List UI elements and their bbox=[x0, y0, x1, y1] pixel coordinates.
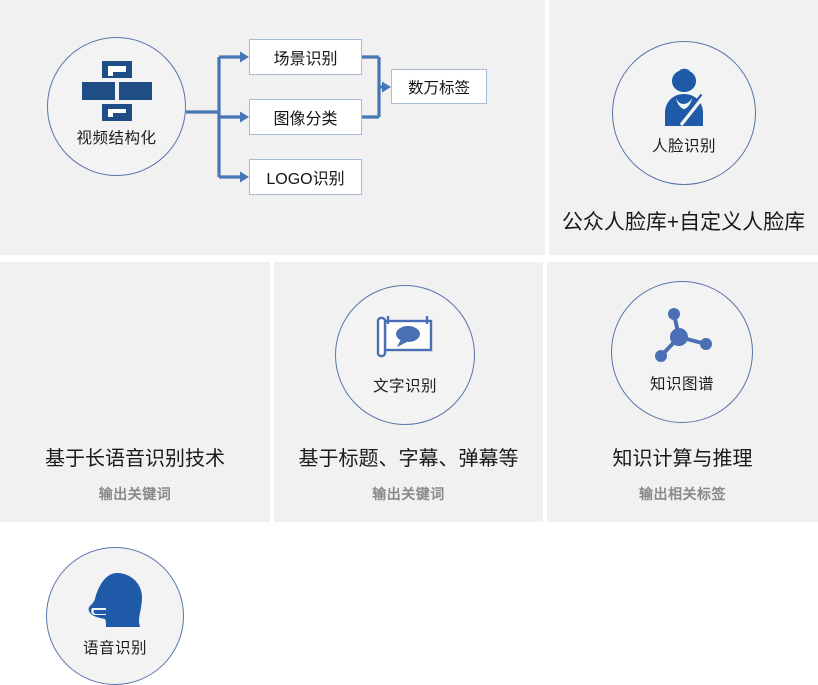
caption-ocr-sub: 输出关键词 bbox=[274, 484, 543, 504]
flow-box-image-classification[interactable]: 图像分类 bbox=[249, 99, 362, 135]
flow-box-tags-output[interactable]: 数万标签 bbox=[391, 69, 487, 104]
ocr-banner-icon bbox=[336, 314, 474, 362]
circle-label-video: 视频结构化 bbox=[48, 126, 185, 148]
caption-ocr-main: 基于标题、字幕、弹幕等 bbox=[274, 442, 543, 471]
knowledge-graph-icon bbox=[612, 304, 752, 364]
capability-overview-board: 视频结构化 场景识别 图像分类 LOGO识别 数万标签 bbox=[0, 0, 818, 522]
circle-label-ocr: 文字识别 bbox=[336, 374, 474, 396]
circle-knowledge-graph[interactable]: 知识图谱 bbox=[611, 281, 753, 423]
flow-box-scene-recognition[interactable]: 场景识别 bbox=[249, 39, 362, 75]
flow-box-tags-label: 数万标签 bbox=[408, 76, 470, 98]
face-recognition-icon bbox=[613, 68, 755, 128]
caption-kg-main: 知识计算与推理 bbox=[547, 442, 818, 471]
circle-face-recognition[interactable]: 人脸识别 bbox=[612, 41, 756, 185]
flow-box-logo-recognition[interactable]: LOGO识别 bbox=[249, 159, 362, 195]
flow-box-image-label: 图像分类 bbox=[273, 105, 337, 129]
panel-face-recognition: 人脸识别 公众人脸库+自定义人脸库 bbox=[549, 0, 818, 255]
circle-text-recognition[interactable]: 文字识别 bbox=[335, 285, 475, 425]
speech-head-icon bbox=[47, 572, 183, 628]
circle-speech-recognition[interactable]: 语音识别 bbox=[46, 547, 184, 685]
flow-box-scene-label: 场景识别 bbox=[273, 45, 337, 69]
video-structure-icon bbox=[48, 60, 185, 122]
caption-face-main: 公众人脸库+自定义人脸库 bbox=[549, 206, 818, 236]
flow-box-logo-label: LOGO识别 bbox=[266, 165, 344, 189]
circle-label-face: 人脸识别 bbox=[613, 134, 755, 156]
panel-video-structuring: 视频结构化 场景识别 图像分类 LOGO识别 数万标签 bbox=[0, 0, 545, 255]
caption-speech-sub: 输出关键词 bbox=[0, 484, 270, 504]
circle-label-speech: 语音识别 bbox=[47, 636, 183, 658]
panel-knowledge-graph: 知识图谱 知识计算与推理 输出相关标签 bbox=[547, 262, 818, 522]
circle-label-kg: 知识图谱 bbox=[612, 372, 752, 394]
caption-speech-main: 基于长语音识别技术 bbox=[0, 442, 270, 471]
panel-speech-recognition: 语音识别 基于长语音识别技术 输出关键词 bbox=[0, 262, 270, 522]
panel-text-recognition: 文字识别 基于标题、字幕、弹幕等 输出关键词 bbox=[274, 262, 543, 522]
caption-kg-sub: 输出相关标签 bbox=[547, 484, 818, 504]
circle-video-structuring[interactable]: 视频结构化 bbox=[47, 37, 186, 176]
